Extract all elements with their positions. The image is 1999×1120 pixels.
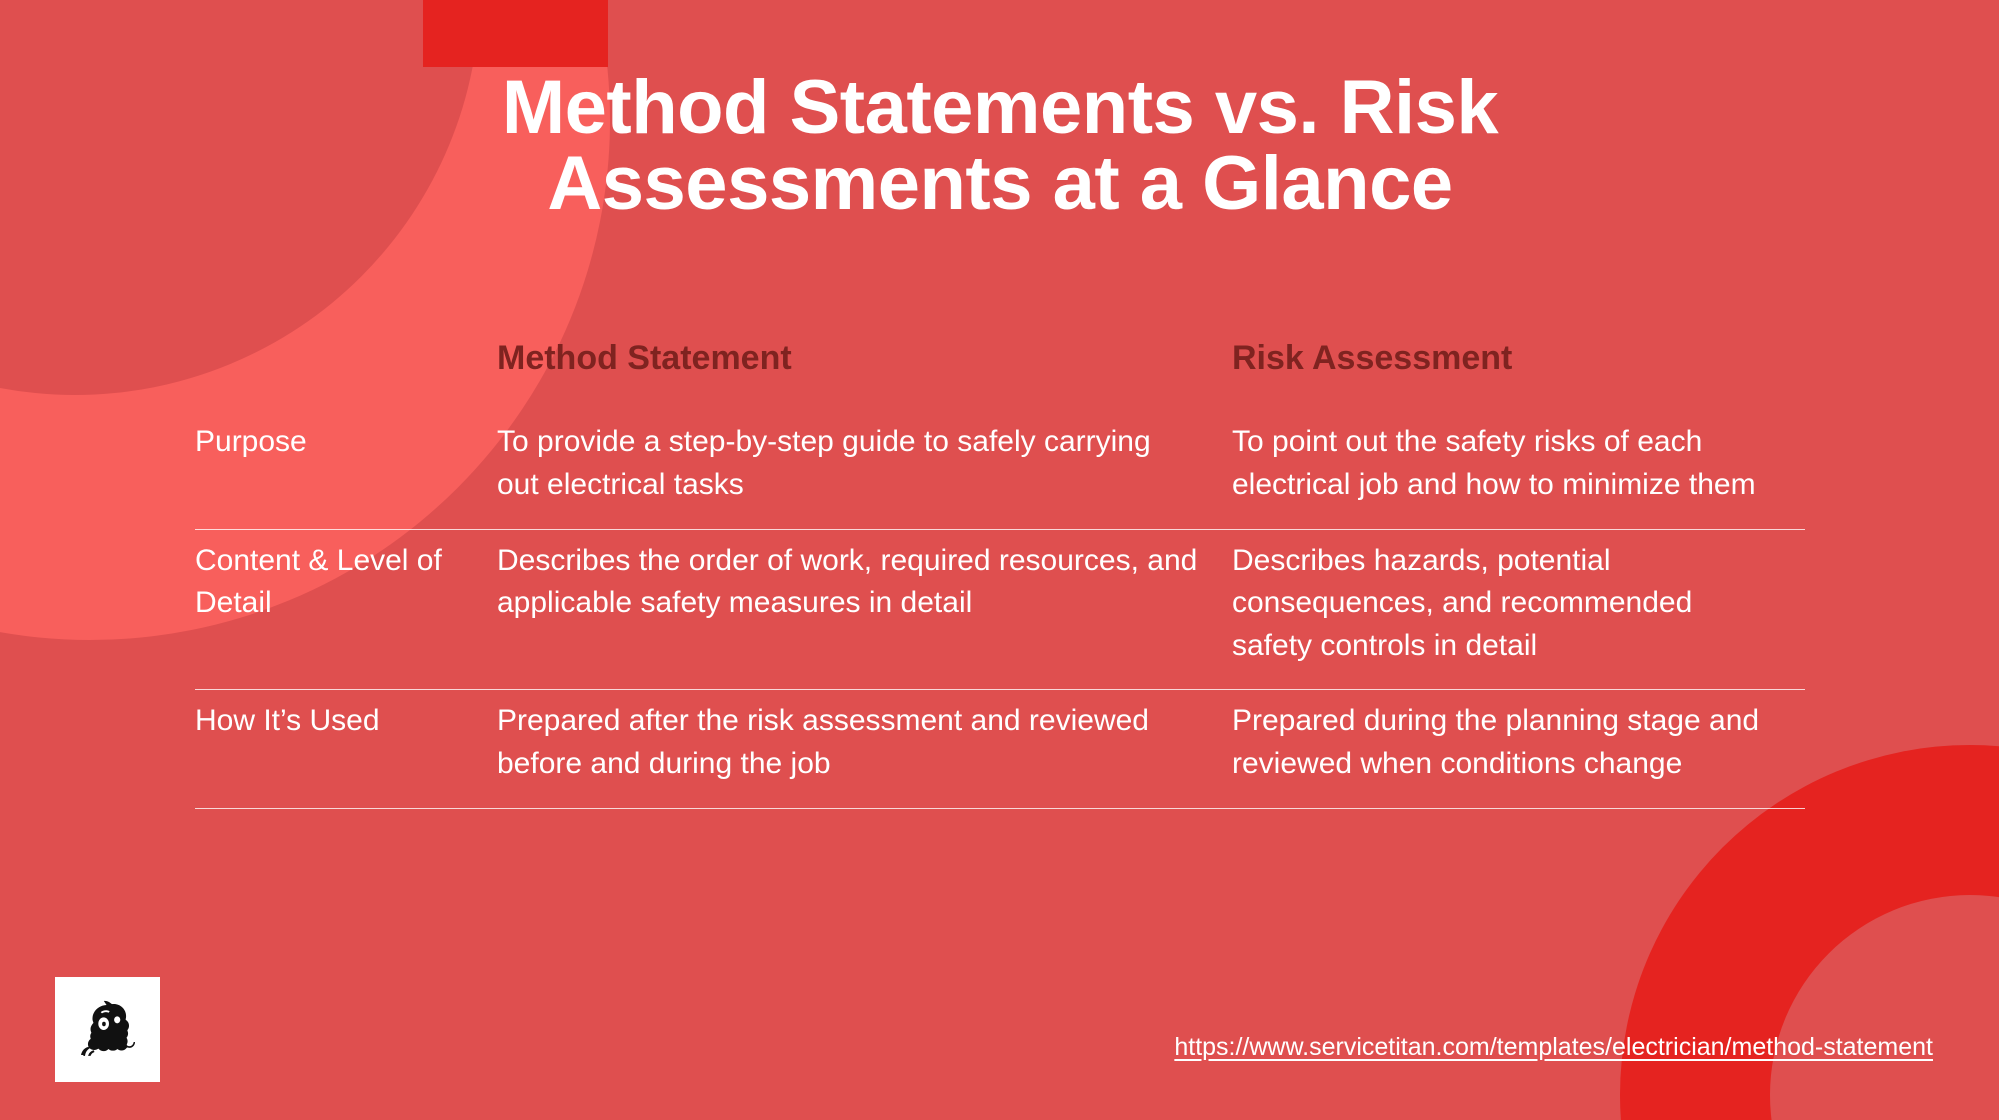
page-title: Method Statements vs. Risk Assessments a… xyxy=(300,70,1700,222)
top-accent-band xyxy=(423,0,608,67)
source-url-link[interactable]: https://www.servicetitan.com/templates/e… xyxy=(1174,1033,1933,1061)
column-header-method-statement: Method Statement xyxy=(497,340,1232,377)
row-label-content-level-of-detail: Content & Level of Detail xyxy=(195,540,497,625)
page-title-line-1: Method Statements vs. Risk xyxy=(300,70,1700,146)
table-row: Content & Level of Detail Describes the … xyxy=(195,530,1805,690)
table-header-row: Method Statement Risk Assessment xyxy=(195,340,1805,411)
cell-content-risk-assessment: Describes hazards, potential consequence… xyxy=(1232,540,1805,668)
table-row: Purpose To provide a step-by-step guide … xyxy=(195,411,1805,528)
source-url-container: https://www.servicetitan.com/templates/e… xyxy=(0,1033,1933,1062)
row-label-how-its-used: How It’s Used xyxy=(195,700,497,743)
bottom-right-ring-hole xyxy=(1770,895,1999,1120)
cell-how-used-method-statement: Prepared after the risk assessment and r… xyxy=(497,700,1232,785)
row-divider xyxy=(195,808,1805,809)
slide-canvas: Method Statements vs. Risk Assessments a… xyxy=(0,0,1999,1120)
table-row: How It’s Used Prepared after the risk as… xyxy=(195,690,1805,807)
servicetitan-logo xyxy=(55,977,160,1082)
column-header-risk-assessment: Risk Assessment xyxy=(1232,340,1805,377)
cell-how-used-risk-assessment: Prepared during the planning stage and r… xyxy=(1232,700,1805,785)
comparison-table: Method Statement Risk Assessment Purpose… xyxy=(195,340,1805,809)
page-title-line-2: Assessments at a Glance xyxy=(300,146,1700,222)
cell-purpose-method-statement: To provide a step-by-step guide to safel… xyxy=(497,421,1232,506)
row-label-purpose: Purpose xyxy=(195,421,497,464)
cell-purpose-risk-assessment: To point out the safety risks of each el… xyxy=(1232,421,1805,506)
cell-content-method-statement: Describes the order of work, required re… xyxy=(497,540,1232,625)
